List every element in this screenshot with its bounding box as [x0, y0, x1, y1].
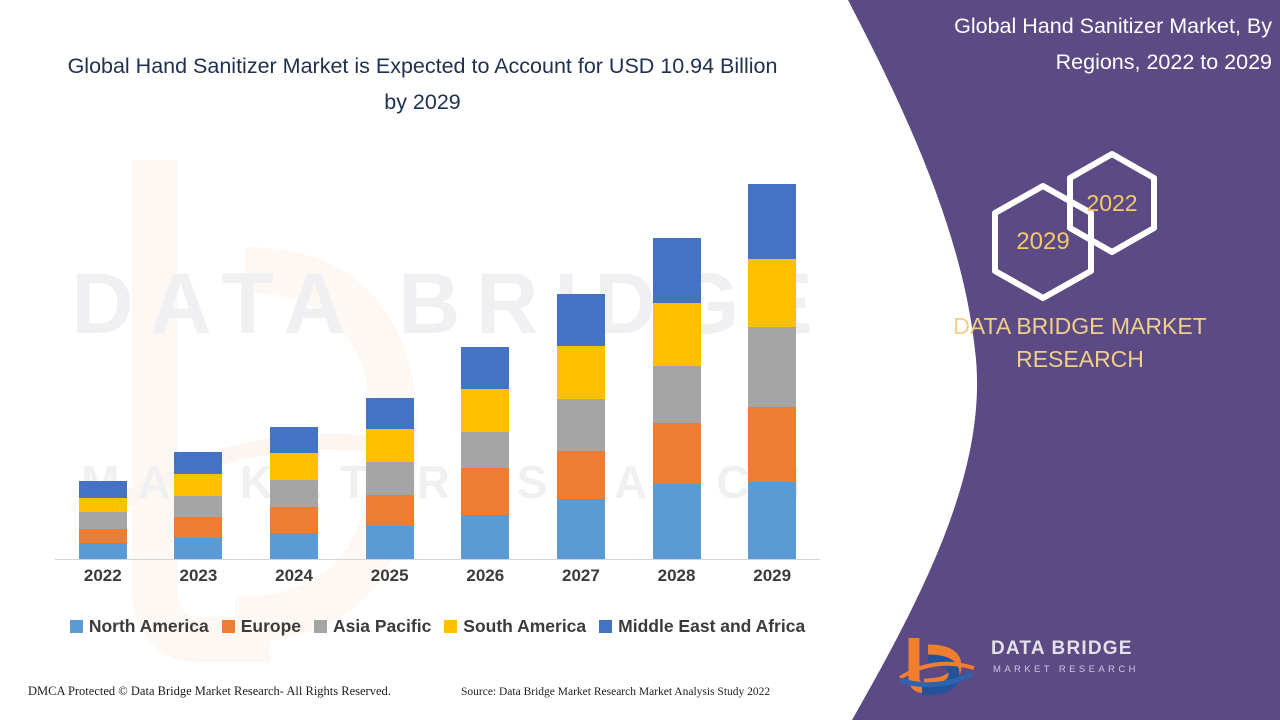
- legend-label: South America: [463, 616, 586, 637]
- bar-segment: [461, 347, 509, 389]
- bar-segment: [557, 399, 605, 451]
- x-axis-tick-2026: 2026: [438, 566, 533, 586]
- bar-segment: [174, 517, 222, 538]
- bar-column: [55, 160, 150, 559]
- legend-swatch-icon: [70, 620, 83, 633]
- bar-segment: [174, 452, 222, 474]
- bar-segment: [557, 499, 605, 559]
- purple-panel-content: Global Hand Sanitizer Market, By Regions…: [880, 0, 1280, 720]
- bar-column: [533, 160, 628, 559]
- bar-column: [438, 160, 533, 559]
- legend-item[interactable]: Middle East and Africa: [599, 616, 805, 637]
- bar-segment: [366, 462, 414, 495]
- logo-mark-icon: [898, 634, 988, 696]
- bar-stack: [461, 347, 509, 559]
- company-logo: DATA BRIDGE MARKET RESEARCH: [898, 634, 1158, 696]
- bar-segment: [557, 451, 605, 499]
- hexagon-label-2029: 2029: [1016, 228, 1069, 256]
- bar-segment: [79, 512, 127, 529]
- legend-label: North America: [89, 616, 209, 637]
- bar-segment: [174, 474, 222, 496]
- bar-segment: [366, 526, 414, 559]
- hexagon-label-2022: 2022: [1086, 190, 1137, 217]
- bar-segment: [270, 480, 318, 507]
- bar-segment: [79, 498, 127, 512]
- x-axis-tick-2028: 2028: [629, 566, 724, 586]
- panel-title: Global Hand Sanitizer Market, By Regions…: [900, 8, 1272, 80]
- bar-stack: [653, 238, 701, 559]
- bar-column: [247, 160, 342, 559]
- legend-label: Asia Pacific: [333, 616, 431, 637]
- bar-segment: [366, 429, 414, 462]
- bar-segment: [748, 407, 796, 482]
- x-axis-line: [55, 559, 820, 560]
- bar-column: [725, 160, 820, 559]
- logo-wordmark: DATA BRIDGE: [991, 638, 1133, 660]
- bar-segment: [79, 529, 127, 543]
- bar-segment: [79, 543, 127, 559]
- bar-segment: [748, 482, 796, 559]
- chart-title: Global Hand Sanitizer Market is Expected…: [60, 48, 785, 120]
- bar-segment: [461, 432, 509, 468]
- bar-segment: [748, 184, 796, 259]
- bar-stack: [270, 427, 318, 559]
- bar-segment: [557, 346, 605, 399]
- legend-item[interactable]: South America: [444, 616, 586, 637]
- footer-source: Source: Data Bridge Market Research Mark…: [461, 686, 770, 698]
- legend-swatch-icon: [444, 620, 457, 633]
- legend-item[interactable]: Europe: [222, 616, 301, 637]
- x-axis-tick-2022: 2022: [55, 566, 150, 586]
- bar-segment: [174, 496, 222, 517]
- bar-segment: [653, 303, 701, 366]
- bar-stack: [366, 398, 414, 559]
- bar-segment: [270, 453, 318, 480]
- x-axis-tick-2023: 2023: [151, 566, 246, 586]
- bar-stack: [79, 481, 127, 559]
- bar-segment: [79, 481, 127, 498]
- legend-item[interactable]: North America: [70, 616, 209, 637]
- x-axis-tick-2027: 2027: [533, 566, 628, 586]
- bar-stack: [174, 452, 222, 559]
- x-axis-tick-labels: 20222023202420252026202720282029: [55, 566, 820, 586]
- bar-segment: [461, 389, 509, 432]
- bar-segment: [270, 507, 318, 533]
- chart-legend: North AmericaEuropeAsia PacificSouth Ame…: [55, 616, 820, 637]
- legend-label: Middle East and Africa: [618, 616, 805, 637]
- bar-segment: [461, 468, 509, 515]
- bar-segment: [653, 238, 701, 303]
- bar-segment: [366, 495, 414, 526]
- bar-segment: [270, 427, 318, 453]
- legend-swatch-icon: [314, 620, 327, 633]
- bar-column: [629, 160, 724, 559]
- legend-swatch-icon: [222, 620, 235, 633]
- bar-segment: [748, 327, 796, 407]
- bar-segment: [270, 533, 318, 559]
- legend-swatch-icon: [599, 620, 612, 633]
- bar-segment: [653, 423, 701, 484]
- x-axis-tick-2024: 2024: [247, 566, 342, 586]
- bar-segment: [557, 294, 605, 346]
- legend-item[interactable]: Asia Pacific: [314, 616, 431, 637]
- bar-segment: [748, 259, 796, 327]
- legend-label: Europe: [241, 616, 301, 637]
- bar-segment: [653, 366, 701, 423]
- logo-subtext: MARKET RESEARCH: [993, 664, 1139, 675]
- chart-plot-area: [55, 160, 820, 560]
- footer-copyright: DMCA Protected © Data Bridge Market Rese…: [28, 684, 391, 699]
- hexagon-badge-2022: 2022: [1064, 150, 1160, 256]
- bar-segment: [174, 538, 222, 559]
- bar-stack: [557, 294, 605, 559]
- bar-segment: [461, 515, 509, 559]
- bar-column: [342, 160, 437, 559]
- bar-segment: [653, 484, 701, 559]
- infographic-canvas: DATA BRIDGE MARKET RESEARCH Global Hand …: [0, 0, 1280, 720]
- bar-segment: [366, 398, 414, 429]
- x-axis-tick-2029: 2029: [725, 566, 820, 586]
- bar-series-group: [55, 160, 820, 559]
- brand-name: DATA BRIDGE MARKET RESEARCH: [894, 310, 1266, 376]
- bar-column: [151, 160, 246, 559]
- x-axis-tick-2025: 2025: [342, 566, 437, 586]
- bar-stack: [748, 184, 796, 559]
